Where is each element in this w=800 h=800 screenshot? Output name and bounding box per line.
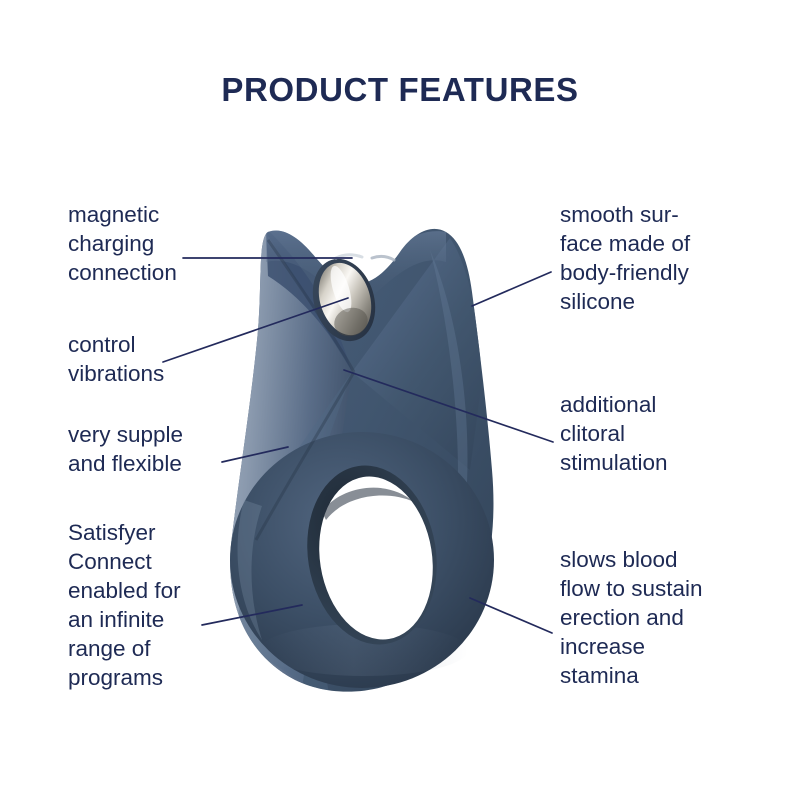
callout-satisfyer-connect: Satisfyer Connect enabled for an infinit…: [68, 518, 268, 692]
callout-very-supple-and-flexible: very supple and flexible: [68, 420, 268, 478]
callout-magnetic-charging-connection: magnetic charging connection: [68, 200, 258, 287]
product-features-infographic: PRODUCT FEATURES: [0, 0, 800, 800]
callout-additional-clitoral-stimulation: additional clitoral stimulation: [560, 390, 775, 477]
callout-control-vibrations: control vibrations: [68, 330, 258, 388]
callout-slows-blood-flow: slows blood flow to sustain erection and…: [560, 545, 780, 690]
callout-smooth-surface-silicone: smooth sur- face made of body-friendly s…: [560, 200, 775, 316]
